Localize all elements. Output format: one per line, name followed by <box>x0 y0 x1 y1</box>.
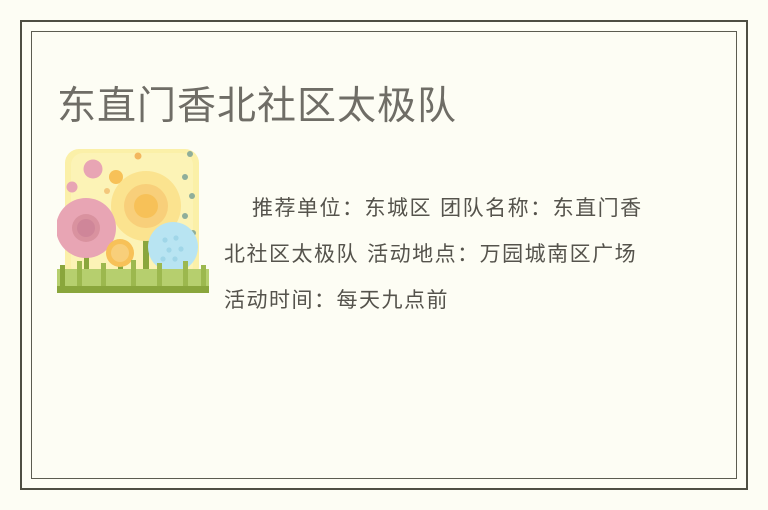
flower-garden-illustration <box>57 143 209 303</box>
poster-page: 东直门香北社区太极队 <box>0 0 768 510</box>
poster-content: 东直门香北社区太极队 <box>34 34 734 476</box>
activity-details-text: 推荐单位：东城区 团队名称：东直门香北社区太极队 活动地点：万园城南区广场 活动… <box>224 185 644 323</box>
page-title: 东直门香北社区太极队 <box>57 82 457 132</box>
